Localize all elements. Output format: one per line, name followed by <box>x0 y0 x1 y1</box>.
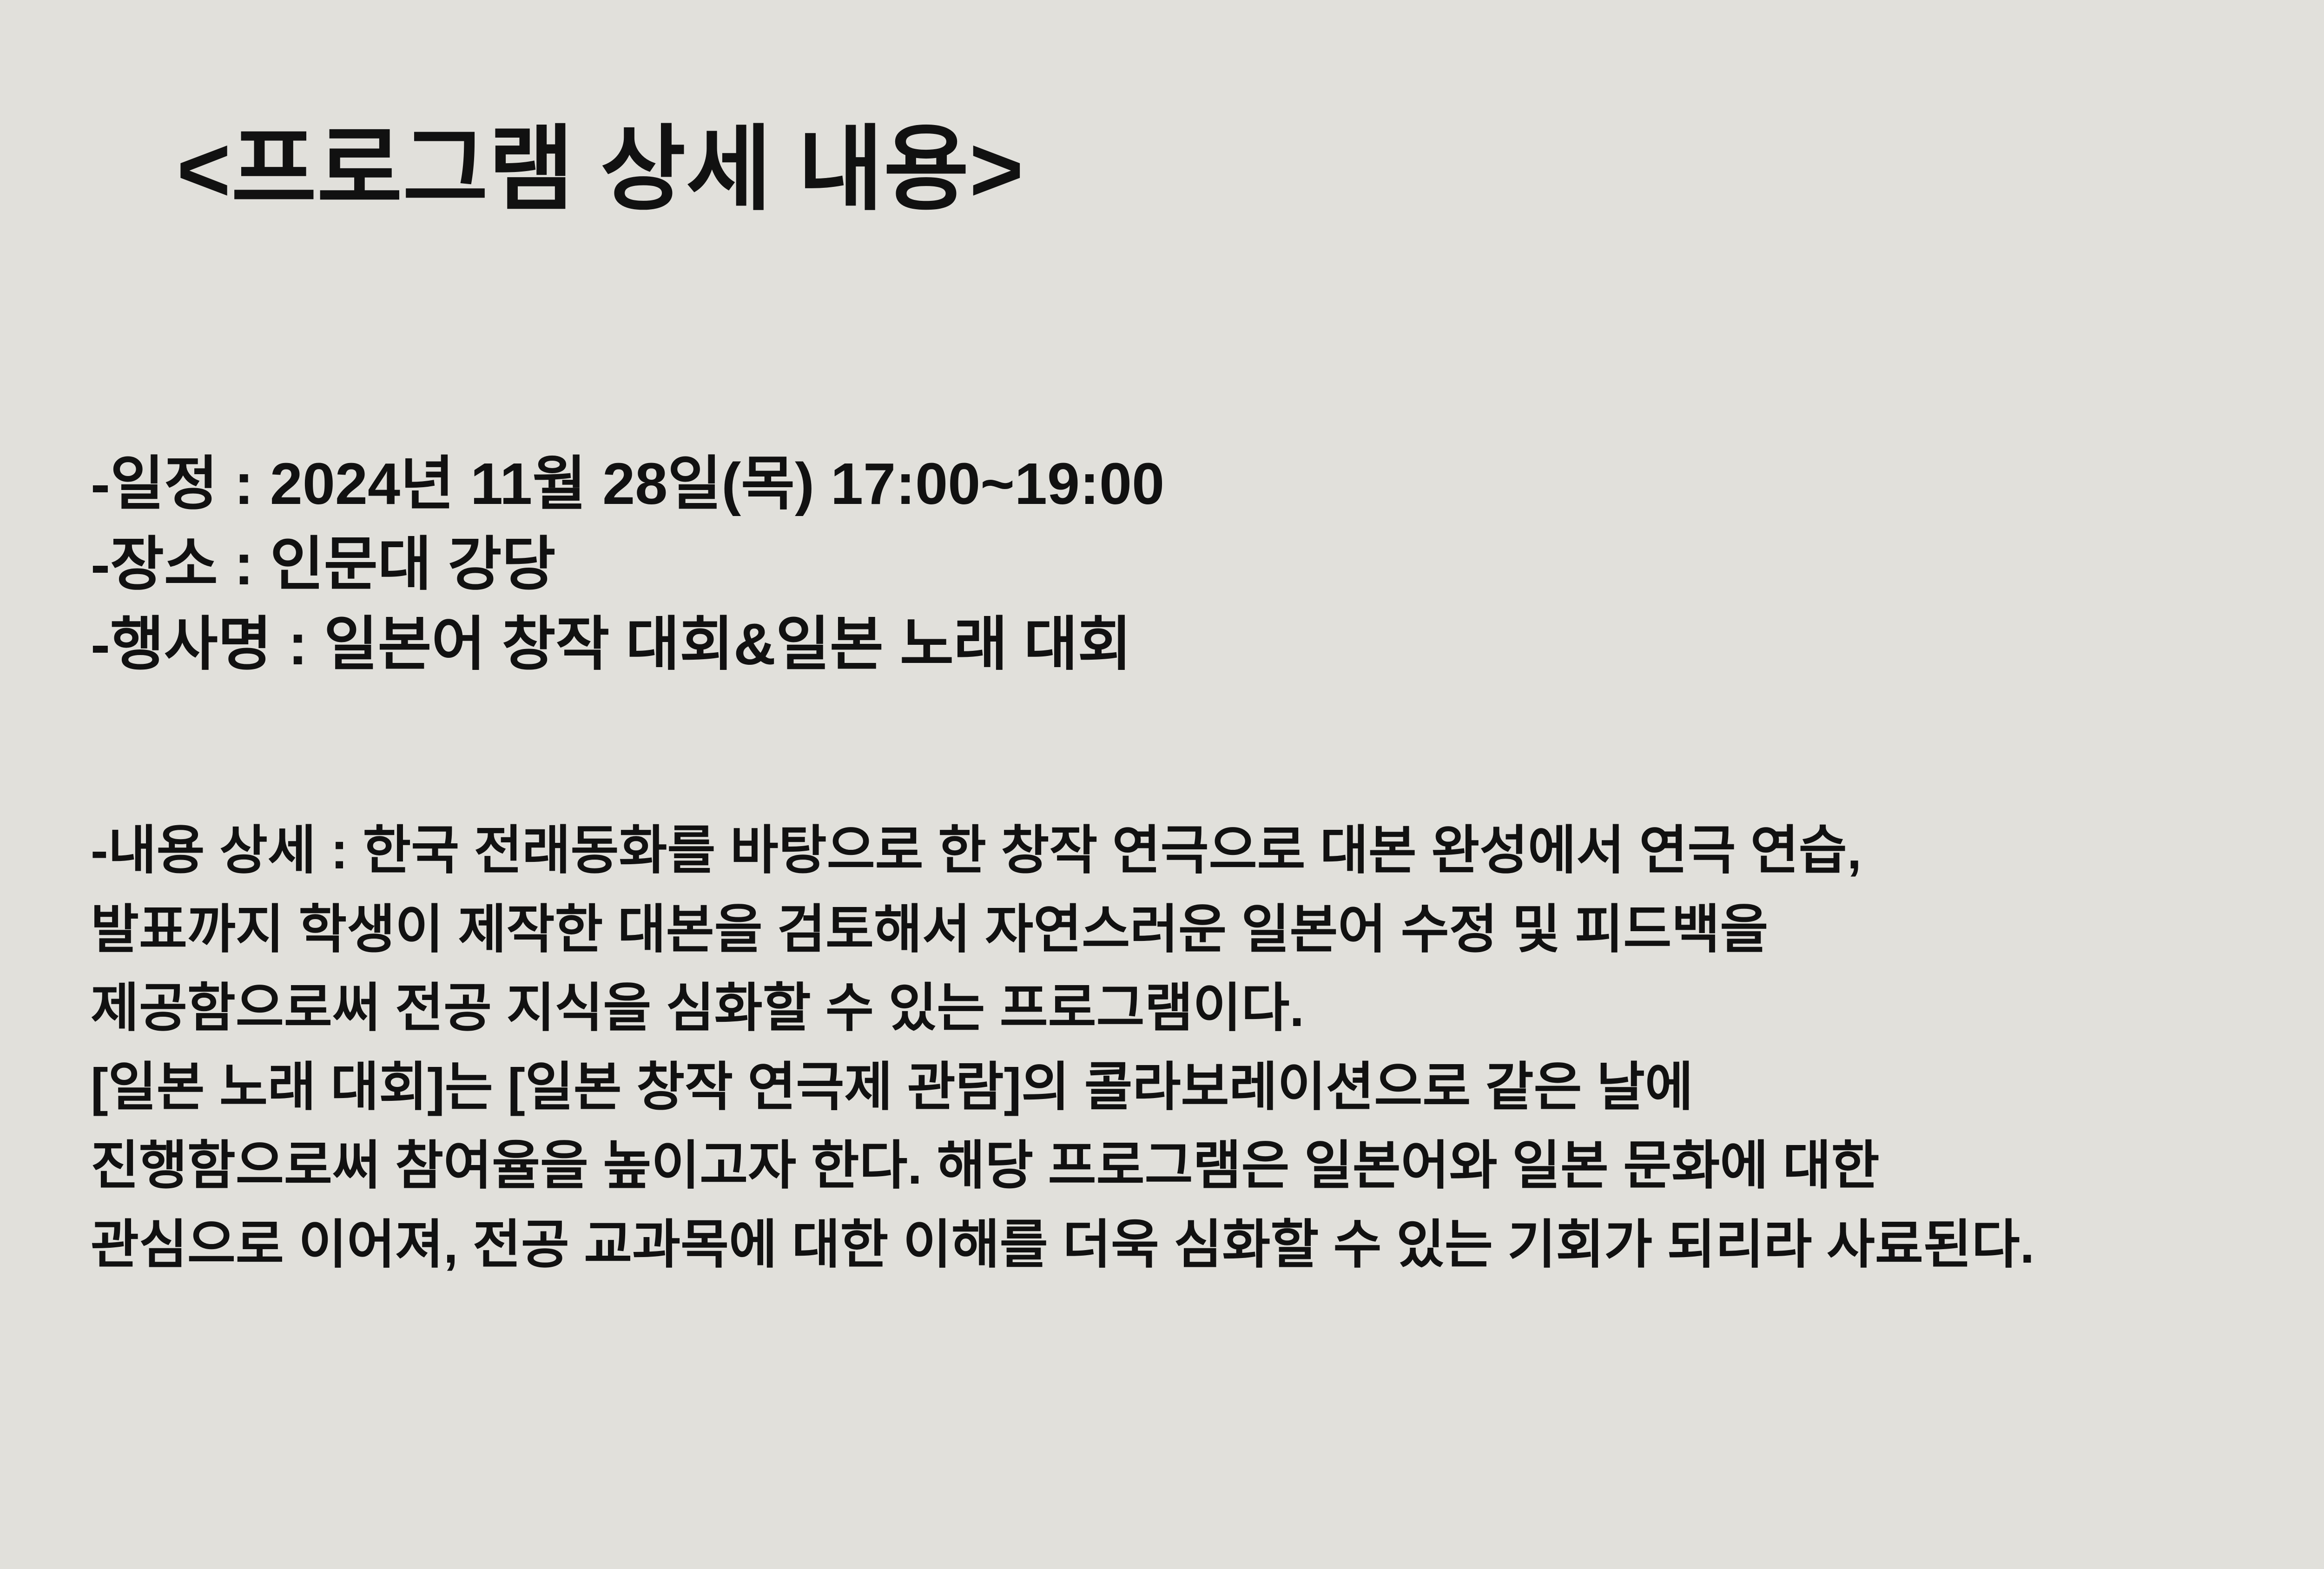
detail-line-4: [일본 노래 대회]는 [일본 창작 연극제 관람]의 콜라보레이션으로 같은 … <box>91 1048 2034 1127</box>
meta-line-event-name: -행사명 : 일본어 창작 대회&일본 노래 대회 <box>91 604 1164 685</box>
detail-line-6: 관심으로 이어져, 전공 교과목에 대한 이해를 더욱 심화할 수 있는 기회가… <box>91 1205 2034 1284</box>
detail-line-2: 발표까지 학생이 제작한 대본을 검토해서 자연스러운 일본어 수정 및 피드백… <box>91 890 2034 969</box>
title-block: <프로그램 상세 내용> <box>177 116 1024 223</box>
program-detail-block: -내용 상세 : 한국 전래동화를 바탕으로 한 창작 연극으로 대본 완성에서… <box>91 811 2034 1284</box>
detail-line-1: -내용 상세 : 한국 전래동화를 바탕으로 한 창작 연극으로 대본 완성에서… <box>91 811 2034 890</box>
page-title: <프로그램 상세 내용> <box>177 116 1024 223</box>
meta-line-venue: -장소 : 인문대 강당 <box>91 524 1164 605</box>
detail-line-3: 제공함으로써 전공 지식을 심화할 수 있는 프로그램이다. <box>91 969 2034 1048</box>
detail-line-5: 진행함으로써 참여율을 높이고자 한다. 해당 프로그램은 일본어와 일본 문화… <box>91 1126 2034 1205</box>
slide-canvas: <프로그램 상세 내용> -일정 : 2024년 11월 28일(목) 17:0… <box>0 0 2324 1569</box>
program-meta-block: -일정 : 2024년 11월 28일(목) 17:00~19:00 -장소 :… <box>91 444 1164 685</box>
meta-line-schedule: -일정 : 2024년 11월 28일(목) 17:00~19:00 <box>91 444 1164 524</box>
